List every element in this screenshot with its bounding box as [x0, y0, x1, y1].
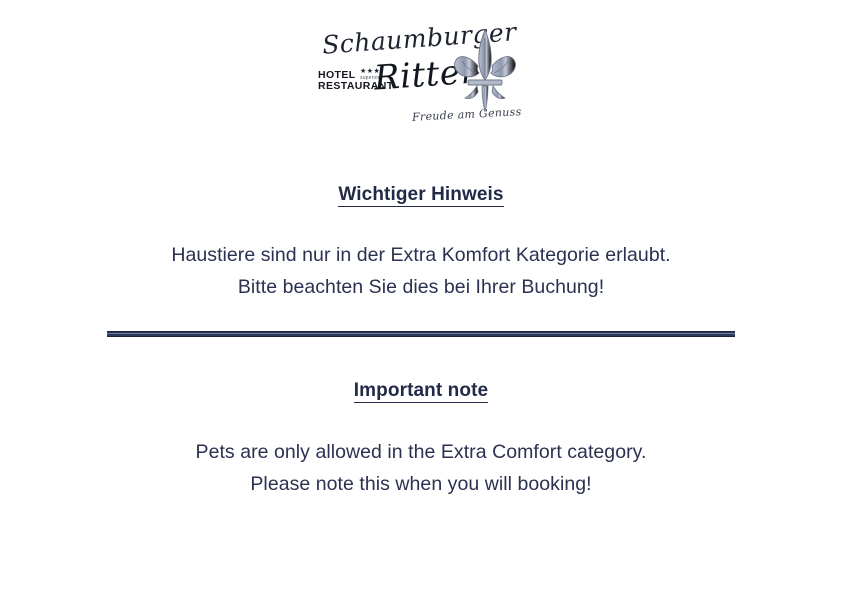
star-rating-value: ★★★	[360, 68, 380, 75]
star-rating-qualifier: superior	[360, 76, 380, 81]
notice-page: Schaumburger Ritter HOTEL RESTAURANT ★★★…	[0, 0, 842, 595]
logo-star-rating: ★★★ superior	[360, 68, 380, 81]
section-divider	[107, 331, 735, 337]
german-notice-body: Haustiere sind nur in der Extra Komfort …	[0, 240, 842, 303]
logo-inner: Schaumburger Ritter HOTEL RESTAURANT ★★★…	[316, 22, 526, 137]
english-notice-line-2: Please note this when you will booking!	[0, 469, 842, 501]
german-notice-line-2: Bitte beachten Sie dies bei Ihrer Buchun…	[0, 272, 842, 304]
logo-category-restaurant: RESTAURANT	[318, 81, 394, 92]
logo-category-block: HOTEL RESTAURANT	[318, 70, 394, 93]
divider-highlight	[107, 333, 735, 334]
fleur-de-lis-icon	[452, 26, 518, 118]
hotel-logo: Schaumburger Ritter HOTEL RESTAURANT ★★★…	[0, 22, 842, 137]
german-notice-heading: Wichtiger Hinweis	[0, 184, 842, 206]
english-notice-heading-text: Important note	[354, 380, 488, 403]
german-notice-line-1: Haustiere sind nur in der Extra Komfort …	[0, 240, 842, 272]
english-notice-heading: Important note	[0, 380, 842, 402]
english-notice-body: Pets are only allowed in the Extra Comfo…	[0, 437, 842, 500]
german-notice-heading-text: Wichtiger Hinweis	[338, 184, 503, 207]
english-notice-line-1: Pets are only allowed in the Extra Comfo…	[0, 437, 842, 469]
